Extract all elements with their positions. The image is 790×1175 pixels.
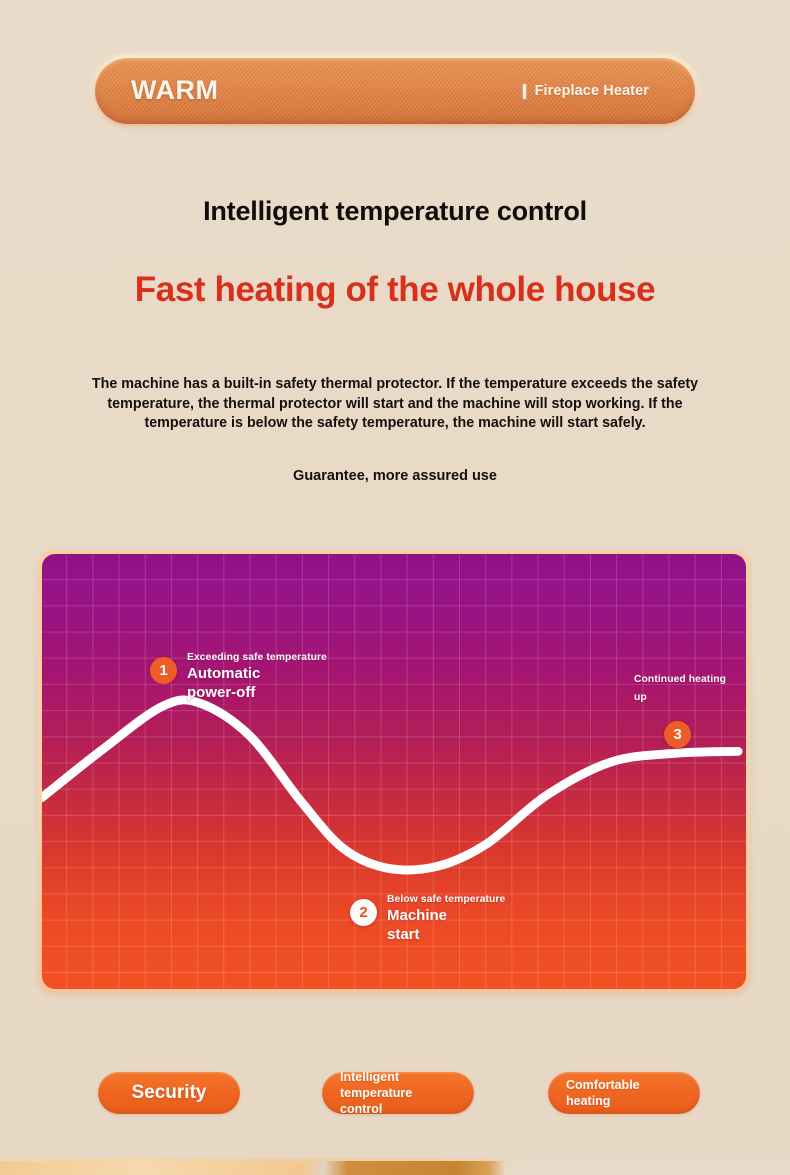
annotation-3: Continued heating up 3 [634, 669, 726, 748]
annotation-3-caption-line2: up [634, 692, 647, 703]
annotation-1-badge: 1 [150, 657, 177, 684]
page-root: WARM Fireplace Heater Intelligent temper… [0, 0, 790, 1175]
annotation-2-text: Below safe temperature Machine start [387, 889, 505, 945]
annotation-3-badge: 3 [664, 721, 691, 748]
page-title: Intelligent temperature control [0, 196, 790, 227]
feature-pill-comfortable-heating[interactable]: Comfortable heating [548, 1072, 700, 1114]
feature-pill-intelligent-temperature-control[interactable]: Intelligent temperature control [322, 1072, 474, 1114]
vertical-bar-icon [523, 84, 526, 99]
annotation-1-label-line1: Automatic [187, 665, 260, 682]
product-label-group: Fireplace Heater [523, 83, 649, 99]
annotation-2-caption: Below safe temperature [387, 894, 505, 905]
temperature-chart: 1 Exceeding safe temperature Automatic p… [38, 550, 750, 993]
feature-pill-security[interactable]: Security [98, 1072, 240, 1114]
description-paragraph: The machine has a built-in safety therma… [78, 375, 712, 434]
pill-3-line1: Comfortable [566, 1078, 640, 1092]
pill-2-line1: Intelligent [340, 1070, 399, 1084]
annotation-2-badge: 2 [350, 899, 377, 926]
annotation-1-caption: Exceeding safe temperature [187, 652, 327, 663]
annotation-3-caption-line1: Continued heating [634, 674, 726, 685]
pill-2-text: Intelligent temperature control [340, 1069, 456, 1117]
page-subtitle: Fast heating of the whole house [0, 270, 790, 310]
pill-3-text: Comfortable heating [566, 1077, 640, 1109]
annotation-1-label-line2: power-off [187, 684, 255, 701]
annotation-2: 2 Below safe temperature Machine start [350, 889, 505, 945]
bottom-decorative-strip [0, 1161, 790, 1175]
product-name: Fireplace Heater [535, 83, 649, 99]
banner-body: WARM Fireplace Heater [95, 58, 695, 124]
pill-2-line2: temperature control [340, 1086, 412, 1116]
pill-3-line2: heating [566, 1094, 610, 1108]
brand-name: WARM [131, 75, 218, 106]
annotation-1-text: Exceeding safe temperature Automatic pow… [187, 647, 327, 703]
guarantee-text: Guarantee, more assured use [0, 468, 790, 484]
chart-plot-area: 1 Exceeding safe temperature Automatic p… [42, 554, 746, 989]
header-banner: WARM Fireplace Heater [95, 58, 695, 124]
annotation-1: 1 Exceeding safe temperature Automatic p… [150, 647, 327, 703]
annotation-2-label-line1: Machine [387, 907, 447, 924]
annotation-2-label-line2: start [387, 926, 420, 943]
